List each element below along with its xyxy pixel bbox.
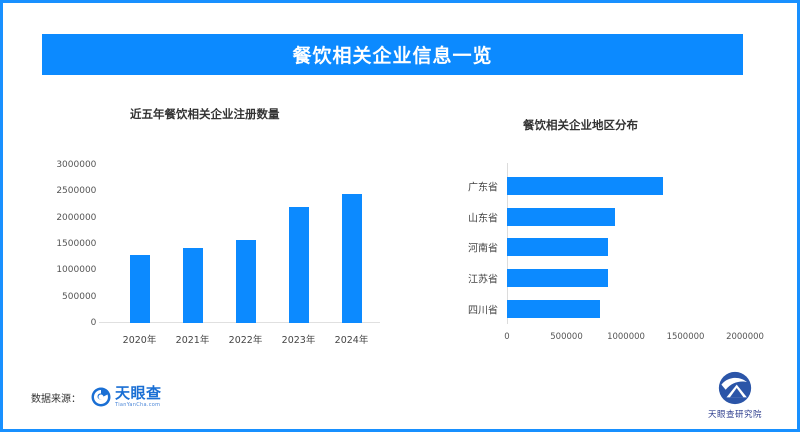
chart-right-x-tick: 1500000 xyxy=(667,332,705,342)
chart-right-bar-row: 四川省 xyxy=(507,293,745,324)
chart-right-plot-area: 广东省山东省河南省江苏省四川省 050000010000001500000200… xyxy=(507,171,745,324)
chart-left-bar-group: 2022年 xyxy=(219,165,272,323)
chart-left-bar-group: 2023年 xyxy=(272,165,325,323)
tianyancha-logo: 天眼查 TianYanCha.com xyxy=(91,386,162,408)
chart-right-title: 餐饮相关企业地区分布 xyxy=(523,117,638,133)
chart-left-bar-group: 2021年 xyxy=(166,165,219,323)
chart-left-x-tick: 2021年 xyxy=(176,332,210,346)
chart-left-y-tick: 3000000 xyxy=(56,160,96,170)
chart-right-bar xyxy=(507,208,615,226)
page-title: 餐饮相关企业信息一览 xyxy=(292,41,492,68)
infographic-page: 餐饮相关企业信息一览 近五年餐饮相关企业注册数量 300000025000002… xyxy=(0,0,800,432)
chart-registrations-by-year: 近五年餐饮相关企业注册数量 30000002500000200000015000… xyxy=(3,93,403,353)
chart-right-category-label: 山东省 xyxy=(468,209,498,224)
chart-left-y-tick: 1500000 xyxy=(56,239,96,249)
chart-right-bar-row: 山东省 xyxy=(507,202,745,233)
chart-left-y-tick: 2000000 xyxy=(56,213,96,223)
chart-left-x-tick: 2022年 xyxy=(229,332,263,346)
chart-right-x-tick: 1000000 xyxy=(607,332,645,342)
chart-left-x-tick: 2020年 xyxy=(123,332,157,346)
chart-left-bar xyxy=(289,207,309,323)
chart-right-bar xyxy=(507,238,608,256)
chart-right-category-label: 四川省 xyxy=(468,301,498,316)
institute-emblem-icon xyxy=(718,371,752,405)
tianyancha-eye-icon xyxy=(91,387,111,407)
chart-left-bar-group: 2020年 xyxy=(113,165,166,323)
chart-right-bar-row: 广东省 xyxy=(507,171,745,202)
chart-right-category-label: 江苏省 xyxy=(468,271,498,286)
chart-right-bar xyxy=(507,300,600,318)
chart-right-bar-row: 江苏省 xyxy=(507,263,745,294)
chart-left-x-tick: 2024年 xyxy=(335,332,369,346)
chart-right-bar xyxy=(507,269,608,287)
chart-left-bar xyxy=(342,194,362,323)
institute-logo: 天眼查研究院 xyxy=(697,371,773,420)
tianyancha-name-en: TianYanCha.com xyxy=(115,403,162,408)
chart-left-y-tick: 0 xyxy=(91,318,97,328)
chart-left-y-tick: 2500000 xyxy=(56,186,96,196)
tianyancha-wordmark: 天眼查 TianYanCha.com xyxy=(115,386,162,408)
data-source-label: 数据来源： xyxy=(31,390,81,405)
chart-right-x-tick: 0 xyxy=(504,332,509,342)
chart-distribution-by-province: 餐饮相关企业地区分布 广东省山东省河南省江苏省四川省 0500000100000… xyxy=(433,93,783,353)
institute-name: 天眼查研究院 xyxy=(697,408,773,420)
page-title-banner: 餐饮相关企业信息一览 xyxy=(42,34,743,75)
chart-left-y-tick: 500000 xyxy=(62,292,96,302)
chart-right-x-tick: 500000 xyxy=(550,332,582,342)
chart-right-bar xyxy=(507,177,663,195)
chart-right-category-label: 河南省 xyxy=(468,240,498,255)
chart-left-y-tick: 1000000 xyxy=(56,265,96,275)
tianyancha-name-cn: 天眼查 xyxy=(115,386,162,401)
chart-right-x-tick: 2000000 xyxy=(726,332,764,342)
chart-left-plot-area: 3000000250000020000001500000100000050000… xyxy=(107,165,372,323)
chart-right-category-label: 广东省 xyxy=(468,179,498,194)
chart-left-bar xyxy=(183,248,203,323)
chart-left-bar xyxy=(236,240,256,323)
data-source: 数据来源： 天眼查 TianYanCha.com xyxy=(31,386,162,408)
chart-left-bar xyxy=(130,255,150,323)
chart-right-bar-row: 河南省 xyxy=(507,232,745,263)
chart-left-bar-group: 2024年 xyxy=(325,165,378,323)
chart-left-x-tick: 2023年 xyxy=(282,332,316,346)
chart-left-title: 近五年餐饮相关企业注册数量 xyxy=(130,106,280,122)
